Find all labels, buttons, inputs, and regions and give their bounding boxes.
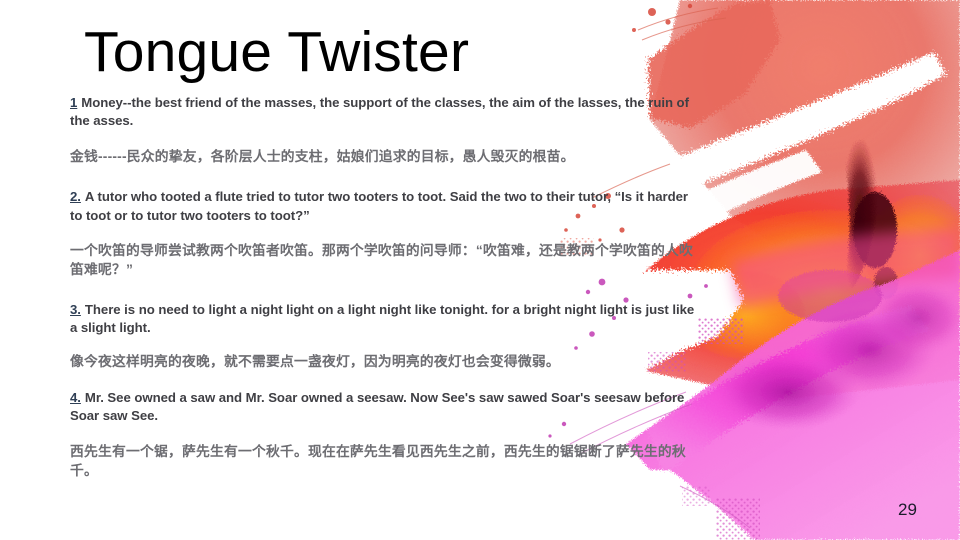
item-marker: 1 bbox=[70, 95, 77, 110]
item-chinese-text: 一个吹笛的导师尝试教两个吹笛者吹笛。那两个学吹笛的问导师：“吹笛难，还是教两个学… bbox=[70, 241, 695, 279]
item-english-line: 2.A tutor who tooted a flute tried to tu… bbox=[70, 188, 695, 224]
item-marker: 3. bbox=[70, 302, 81, 317]
item-chinese-text: 金钱------民众的挚友，各阶层人士的支柱，姑娘们追求的目标，愚人毁灭的根苗。 bbox=[70, 147, 695, 166]
list-item: 1Money--the best friend of the masses, t… bbox=[70, 94, 695, 166]
item-english-line: 3.There is no need to light a night ligh… bbox=[70, 301, 695, 337]
slide-canvas: Tongue Twister 1Money--the best friend o… bbox=[0, 0, 960, 540]
item-english-line: 1Money--the best friend of the masses, t… bbox=[70, 94, 695, 130]
item-chinese-text: 西先生有一个锯，萨先生有一个秋千。现在在萨先生看见西先生之前，西先生的锯锯断了萨… bbox=[70, 442, 695, 480]
item-chinese-text: 像今夜这样明亮的夜晚，就不需要点一盏夜灯，因为明亮的夜灯也会变得微弱。 bbox=[70, 352, 695, 371]
item-english-text: Mr. See owned a saw and Mr. Soar owned a… bbox=[70, 390, 684, 423]
item-marker: 4. bbox=[70, 390, 81, 405]
item-english-text: A tutor who tooted a flute tried to tuto… bbox=[70, 189, 688, 222]
tongue-twister-list: 1Money--the best friend of the masses, t… bbox=[70, 94, 695, 480]
item-english-line: 4.Mr. See owned a saw and Mr. Soar owned… bbox=[70, 389, 695, 425]
item-english-text: Money--the best friend of the masses, th… bbox=[70, 95, 689, 128]
item-marker: 2. bbox=[70, 189, 81, 204]
list-item: 4.Mr. See owned a saw and Mr. Soar owned… bbox=[70, 389, 695, 479]
page-number: 29 bbox=[898, 500, 917, 520]
list-item: 3.There is no need to light a night ligh… bbox=[70, 301, 695, 371]
list-item: 2.A tutor who tooted a flute tried to tu… bbox=[70, 188, 695, 278]
page-title: Tongue Twister bbox=[84, 22, 469, 84]
item-english-text: There is no need to light a night light … bbox=[70, 302, 694, 335]
